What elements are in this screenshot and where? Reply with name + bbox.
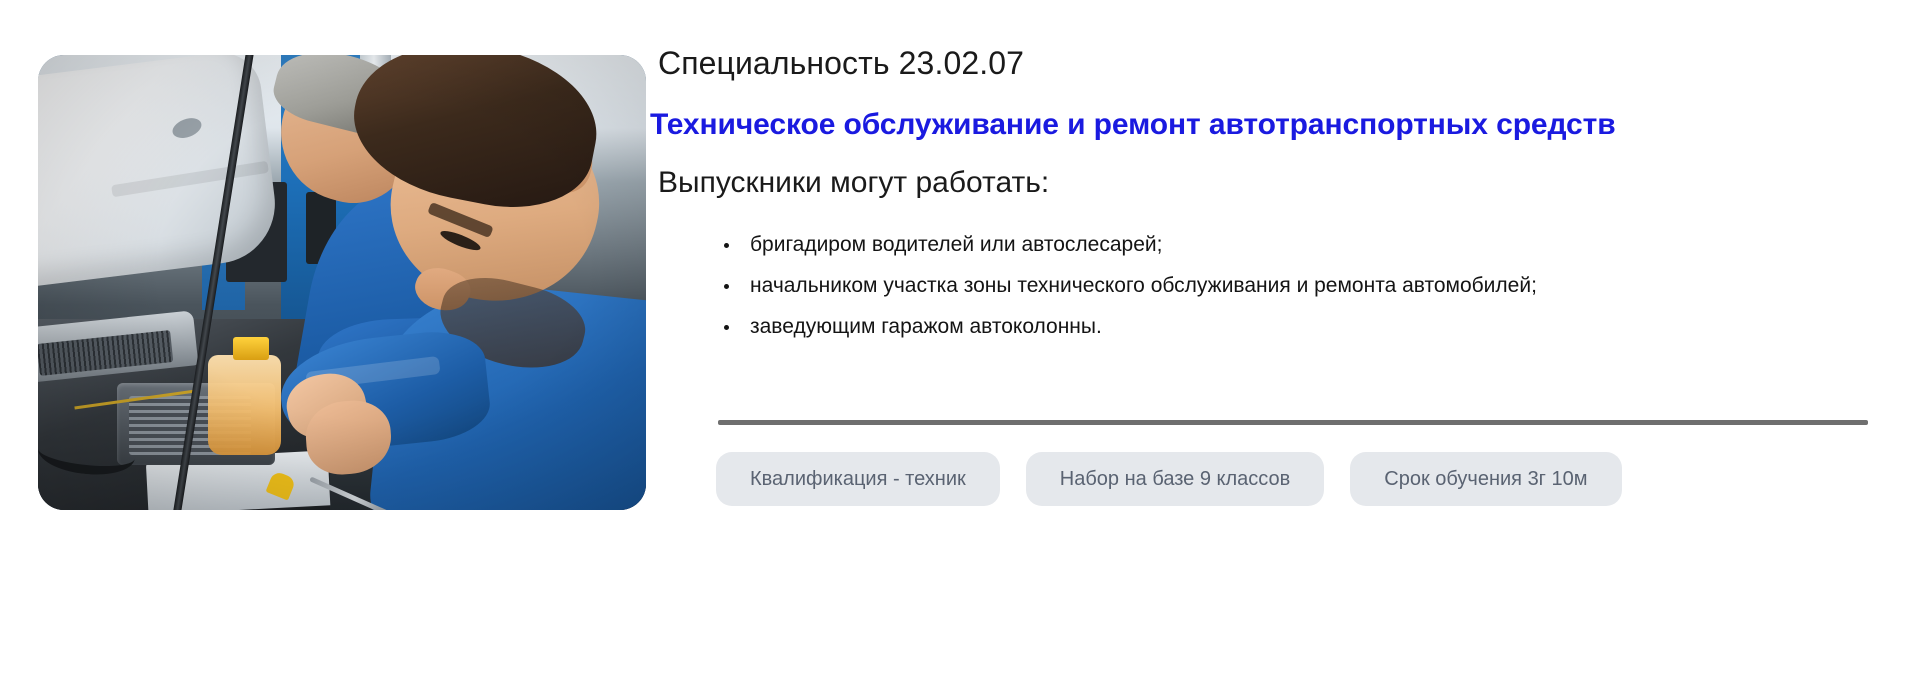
status-badge-admission: Набор на базе 9 классов — [1026, 452, 1325, 506]
list-item: заведующим гаражом автоколонны. — [718, 314, 1537, 341]
graduates-heading: Выпускники могут работать: — [658, 166, 1049, 200]
slide-root: Специальность 23.02.07 Техническое обслу… — [0, 0, 1920, 700]
list-item: бригадиром водителей или автослесарей; — [718, 232, 1537, 259]
list-item: начальником участка зоны технического об… — [718, 273, 1537, 300]
status-badge-duration: Срок обучения 3г 10м — [1350, 452, 1621, 506]
specialty-title: Техническое обслуживание и ремонт автотр… — [650, 108, 1616, 142]
mechanics-photo — [38, 55, 646, 510]
career-options-list: бригадиром водителей или автослесарей; н… — [718, 232, 1537, 355]
coolant-tank — [208, 355, 281, 455]
info-badges: Квалификация - техник Набор на базе 9 кл… — [716, 452, 1622, 506]
section-divider — [718, 420, 1868, 425]
status-badge-qualification: Квалификация - техник — [716, 452, 1000, 506]
content-column: Специальность 23.02.07 Техническое обслу… — [658, 0, 1898, 700]
coolant-tank-cap — [233, 337, 269, 360]
photo-canvas — [38, 55, 646, 510]
specialty-code-label: Специальность 23.02.07 — [658, 45, 1024, 82]
